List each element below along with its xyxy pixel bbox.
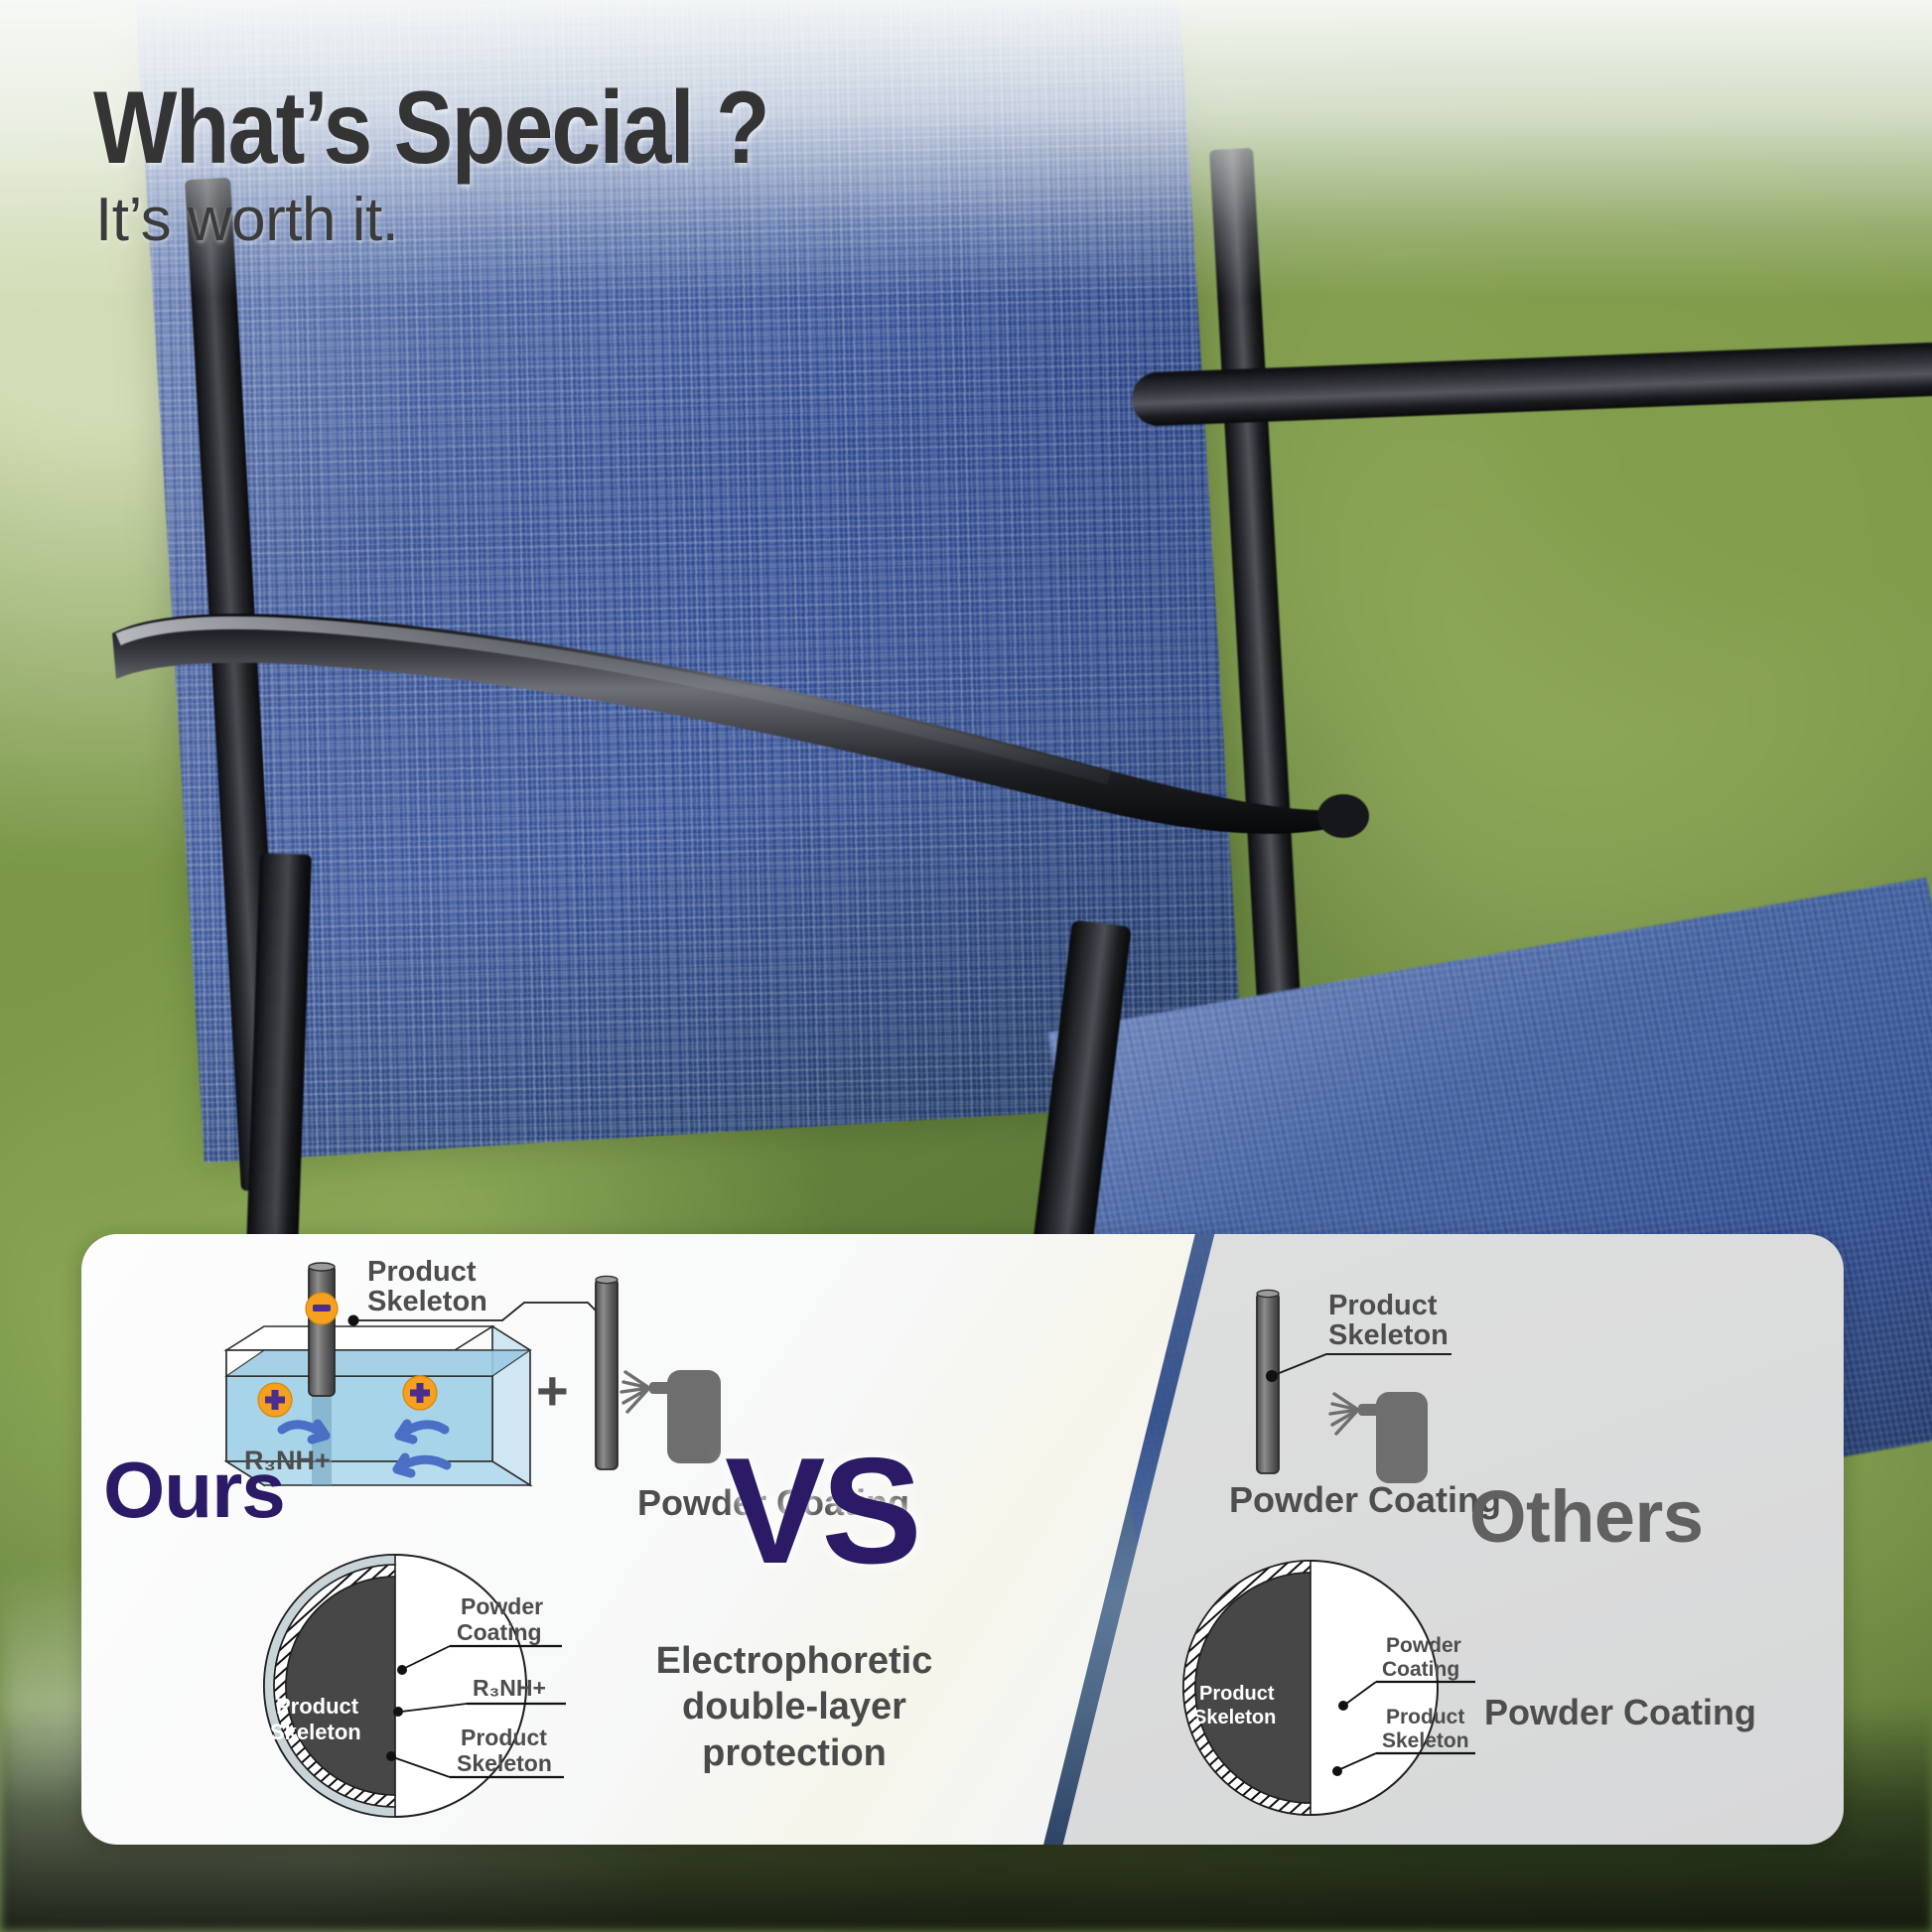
ours-callout-3-line2: Skeleton <box>457 1750 552 1776</box>
others-skeleton-label-line2: Skeleton <box>1328 1319 1449 1351</box>
others-skeleton-label-line1: Product <box>1328 1290 1438 1321</box>
others-benefit-text: Powder Coating <box>1484 1692 1756 1733</box>
others-callout-1-line2: Coating <box>1382 1658 1459 1681</box>
ours-electrophoresis-diagram: R₃NH+ Product Skeleton + <box>208 1259 725 1517</box>
ours-core-label-line2: Skeleton <box>270 1720 361 1744</box>
others-brand-label: Others <box>1469 1474 1704 1559</box>
vs-label: VS <box>725 1425 918 1598</box>
chair-armrest <box>94 596 1375 834</box>
ours-callout-2-line1: R₃NH+ <box>473 1675 546 1701</box>
page-subtitle: It’s worth it. <box>95 185 398 255</box>
ours-benefit-text: Electrophoretic double-layer protection <box>586 1638 1003 1776</box>
ours-callout-1-line1: Powder <box>461 1593 543 1619</box>
others-callout-2-line2: Skeleton <box>1382 1729 1469 1752</box>
others-spray-gun-icon <box>1330 1392 1428 1483</box>
ours-brand-label: Ours <box>103 1445 285 1536</box>
others-callout-1-line1: Powder <box>1386 1634 1461 1657</box>
ours-core-label-line1: Product <box>276 1694 359 1719</box>
infographic-canvas: What’s Special ? It’s worth it. <box>0 0 1932 1932</box>
ours-skeleton-label-line2: Skeleton <box>367 1286 487 1317</box>
others-powder-coating-label: Powder Coating <box>1229 1479 1501 1521</box>
plus-operator: + <box>536 1359 569 1422</box>
others-core-label-line1: Product <box>1199 1683 1275 1705</box>
ours-skeleton-label-line1: Product <box>367 1256 477 1288</box>
others-process-diagram: Product Skeleton <box>1231 1279 1668 1507</box>
ours-benefit-line1: Electrophoretic <box>586 1638 1003 1684</box>
page-title: What’s Special ? <box>93 69 768 188</box>
ours-callout-1-line2: Coating <box>457 1619 542 1645</box>
ours-benefit-line2: double-layer protection <box>586 1684 1003 1776</box>
spray-gun-icon <box>621 1370 721 1463</box>
others-core-label-line2: Skeleton <box>1193 1707 1276 1728</box>
ours-callout-3-line1: Product <box>461 1725 547 1750</box>
others-callout-2-line1: Product <box>1386 1706 1464 1728</box>
